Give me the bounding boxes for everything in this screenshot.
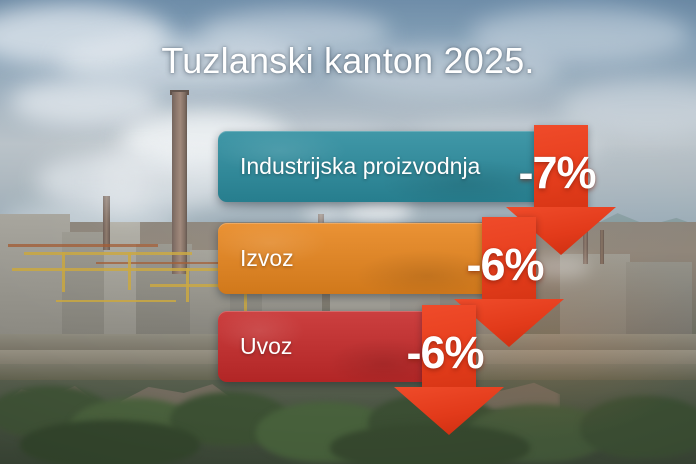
bar-label: Izvoz xyxy=(240,223,294,294)
value-label: -6% xyxy=(430,239,580,291)
bar-label: Industrijska proizvodnja xyxy=(240,131,480,202)
value-label: -7% xyxy=(482,147,632,199)
value-label: -6% xyxy=(370,327,520,379)
arrow-head xyxy=(394,387,504,435)
bar-label: Uvoz xyxy=(240,311,292,382)
bar-chart: Industrijska proizvodnja -7% Izvoz -6% U… xyxy=(0,0,696,464)
infographic-canvas: Tuzlanski kanton 2025. Industrijska proi… xyxy=(0,0,696,464)
